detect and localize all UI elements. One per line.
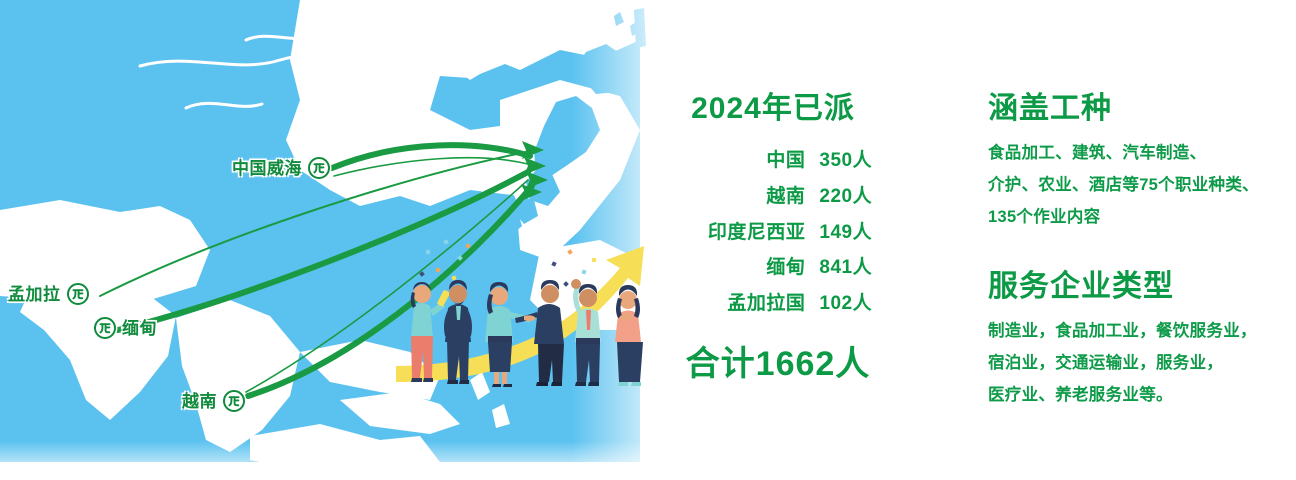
country-name: 印度尼西亚 <box>708 215 820 251</box>
job-types-body: 食品加工、建筑、汽车制造、 介护、农业、酒店等75个职业种类、 135个作业内容 <box>988 137 1288 234</box>
enterprise-types-line: 制造业，食品加工业，餐饮服务业， <box>988 315 1288 347</box>
map-label-text: 越南 <box>182 393 217 410</box>
table-row: 越南 220人 <box>708 179 872 215</box>
map-label-china-weihai[interactable]: 中国威海 <box>232 157 330 179</box>
country-name: 中国 <box>708 143 820 179</box>
total-dispatched: 合计1662人 <box>640 336 940 385</box>
map-label-text: 缅甸 <box>122 320 157 337</box>
job-types-heading: 涵盖工种 <box>988 92 1288 125</box>
infographic-root: 中国威海 孟加拉 <box>0 0 1296 480</box>
table-row: 印度尼西亚 149人 <box>708 215 872 251</box>
country-value: 350人 <box>819 143 872 179</box>
wan-pin-icon <box>308 157 330 179</box>
wan-pin-icon <box>94 317 116 339</box>
enterprise-types-heading: 服务企业类型 <box>988 270 1288 303</box>
enterprise-types-body: 制造业，食品加工业，餐饮服务业， 宿泊业，交通运输业，服务业， 医疗业、养老服务… <box>988 315 1288 412</box>
person-4 <box>515 280 564 386</box>
person-5 <box>571 279 601 386</box>
country-value: 220人 <box>819 179 872 215</box>
wan-pin-icon <box>67 283 89 305</box>
enterprise-types-line: 医疗业、养老服务业等。 <box>988 379 1288 411</box>
section-spacer <box>988 234 1288 270</box>
job-types-line: 食品加工、建筑、汽车制造、 <box>988 137 1288 169</box>
map-label-text: 孟加拉 <box>8 286 61 303</box>
country-value: 102人 <box>819 286 872 322</box>
map-label-text: 中国威海 <box>232 160 302 177</box>
stats-heading: 2024年已派 <box>640 92 940 125</box>
job-types-line: 135个作业内容 <box>988 201 1288 233</box>
country-name: 越南 <box>708 179 820 215</box>
map-label-myanmar[interactable]: 缅甸 <box>94 317 157 339</box>
country-name: 孟加拉国 <box>708 286 820 322</box>
map-label-vietnam[interactable]: 越南 <box>182 390 245 412</box>
country-value: 841人 <box>819 250 872 286</box>
table-row: 中国 350人 <box>708 143 872 179</box>
stats-table-body: 中国 350人 越南 220人 印度尼西亚 149人 缅甸 841人 孟加拉国 <box>708 143 872 322</box>
wan-pin-icon <box>223 390 245 412</box>
enterprise-types-line: 宿泊业，交通运输业，服务业， <box>988 347 1288 379</box>
map-label-bangladesh[interactable]: 孟加拉 <box>8 283 89 305</box>
person-6 <box>615 285 643 386</box>
table-row: 缅甸 841人 <box>708 250 872 286</box>
table-row: 孟加拉国 102人 <box>708 286 872 322</box>
business-people-illustration <box>392 232 660 402</box>
info-column: 涵盖工种 食品加工、建筑、汽车制造、 介护、农业、酒店等75个职业种类、 135… <box>988 92 1288 411</box>
country-value: 149人 <box>819 215 872 251</box>
person-3 <box>485 282 531 387</box>
country-name: 缅甸 <box>708 250 820 286</box>
stats-column: 2024年已派 中国 350人 越南 220人 印度尼西亚 149人 缅甸 84… <box>640 92 940 385</box>
dispatch-stats-table: 中国 350人 越南 220人 印度尼西亚 149人 缅甸 841人 孟加拉国 <box>708 143 872 322</box>
confetti <box>419 239 596 286</box>
job-types-line: 介护、农业、酒店等75个职业种类、 <box>988 169 1288 201</box>
